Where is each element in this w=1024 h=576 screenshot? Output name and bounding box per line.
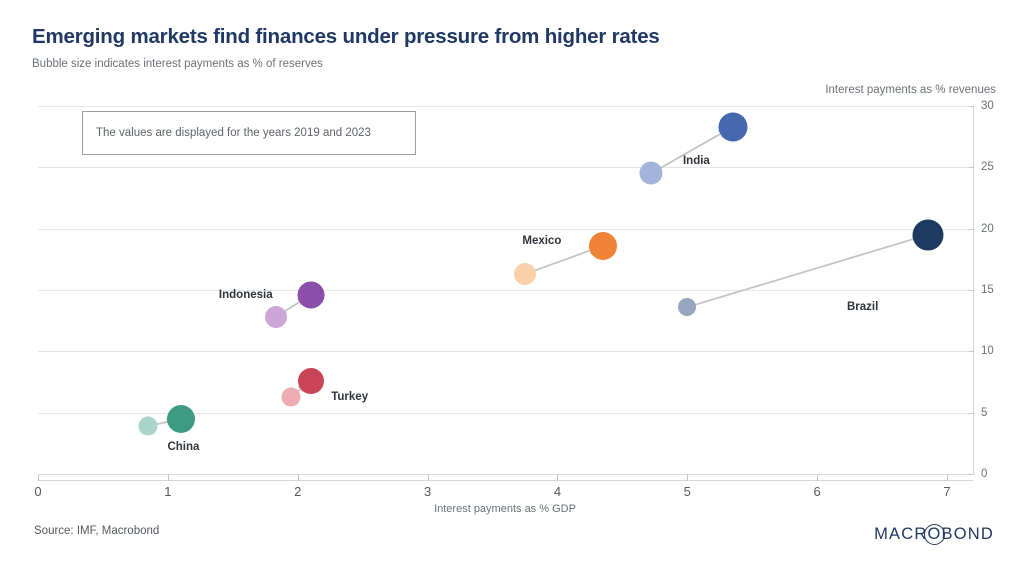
x-axis-title: Interest payments as % GDP bbox=[0, 503, 1010, 515]
y-tick-label-0: 0 bbox=[981, 468, 987, 480]
y-tick-mark-5 bbox=[969, 413, 974, 414]
x-tick-mark-3 bbox=[428, 475, 429, 481]
y-tick-mark-15 bbox=[969, 290, 974, 291]
chart-subtitle: Bubble size indicates interest payments … bbox=[32, 58, 972, 70]
x-tick-mark-1 bbox=[168, 475, 169, 481]
series-label-indonesia: Indonesia bbox=[219, 289, 273, 301]
y-tick-label-10: 10 bbox=[981, 345, 994, 357]
bubble-china-2023[interactable] bbox=[167, 405, 195, 433]
bubble-india-2019[interactable] bbox=[639, 162, 662, 185]
gridline-y-30 bbox=[38, 106, 973, 107]
bubble-brazil-2019[interactable] bbox=[678, 298, 696, 316]
logo-ring-icon bbox=[924, 524, 945, 545]
source-note: Source: IMF, Macrobond bbox=[34, 525, 159, 537]
y-tick-label-30: 30 bbox=[981, 100, 994, 112]
series-label-mexico: Mexico bbox=[522, 235, 561, 247]
y-tick-label-5: 5 bbox=[981, 407, 987, 419]
x-tick-label-2: 2 bbox=[294, 484, 301, 499]
series-label-brazil: Brazil bbox=[847, 301, 878, 313]
x-tick-label-0: 0 bbox=[34, 484, 41, 499]
bubble-china-2019[interactable] bbox=[139, 417, 158, 436]
x-tick-label-4: 4 bbox=[554, 484, 561, 499]
bubble-mexico-2019[interactable] bbox=[514, 263, 536, 285]
page-title: Emerging markets find finances under pre… bbox=[32, 26, 972, 49]
x-tick-mark-4 bbox=[557, 475, 558, 481]
x-tick-mark-0 bbox=[38, 475, 39, 481]
gridline-y-0 bbox=[38, 474, 973, 475]
x-tick-label-6: 6 bbox=[814, 484, 821, 499]
y-tick-mark-0 bbox=[969, 474, 974, 475]
x-tick-label-7: 7 bbox=[943, 484, 950, 499]
x-tick-mark-2 bbox=[298, 475, 299, 481]
gridline-y-20 bbox=[38, 229, 973, 230]
y-tick-label-20: 20 bbox=[981, 223, 994, 235]
gridline-y-15 bbox=[38, 290, 973, 291]
x-axis-line bbox=[38, 480, 973, 481]
annotation-callout-box: The values are displayed for the years 2… bbox=[82, 111, 416, 155]
annotation-text: The values are displayed for the years 2… bbox=[96, 127, 371, 139]
chart-header: Emerging markets find finances under pre… bbox=[32, 26, 972, 70]
y-axis-title: Interest payments as % revenues bbox=[825, 84, 996, 96]
y-tick-label-15: 15 bbox=[981, 284, 994, 296]
series-label-india: India bbox=[683, 155, 710, 167]
y-tick-mark-10 bbox=[969, 351, 974, 352]
bubble-turkey-2023[interactable] bbox=[298, 368, 324, 394]
series-label-turkey: Turkey bbox=[331, 391, 368, 403]
y-tick-mark-20 bbox=[969, 229, 974, 230]
x-tick-mark-5 bbox=[687, 475, 688, 481]
x-tick-mark-6 bbox=[817, 475, 818, 481]
bubble-mexico-2023[interactable] bbox=[589, 232, 617, 260]
y-tick-mark-30 bbox=[969, 106, 974, 107]
bubble-indonesia-2023[interactable] bbox=[297, 281, 324, 308]
macrobond-logo: MACROBOND bbox=[874, 523, 994, 545]
x-tick-label-3: 3 bbox=[424, 484, 431, 499]
bubble-brazil-2023[interactable] bbox=[912, 219, 943, 250]
gridline-y-25 bbox=[38, 167, 973, 168]
series-label-china: China bbox=[167, 441, 199, 453]
bubble-india-2023[interactable] bbox=[718, 112, 747, 141]
gridline-y-10 bbox=[38, 351, 973, 352]
x-tick-mark-7 bbox=[947, 475, 948, 481]
bubble-indonesia-2019[interactable] bbox=[265, 306, 287, 328]
bubble-turkey-2019[interactable] bbox=[282, 387, 301, 406]
y-tick-mark-25 bbox=[969, 167, 974, 168]
y-tick-label-25: 25 bbox=[981, 161, 994, 173]
x-tick-label-5: 5 bbox=[684, 484, 691, 499]
x-tick-label-1: 1 bbox=[164, 484, 171, 499]
